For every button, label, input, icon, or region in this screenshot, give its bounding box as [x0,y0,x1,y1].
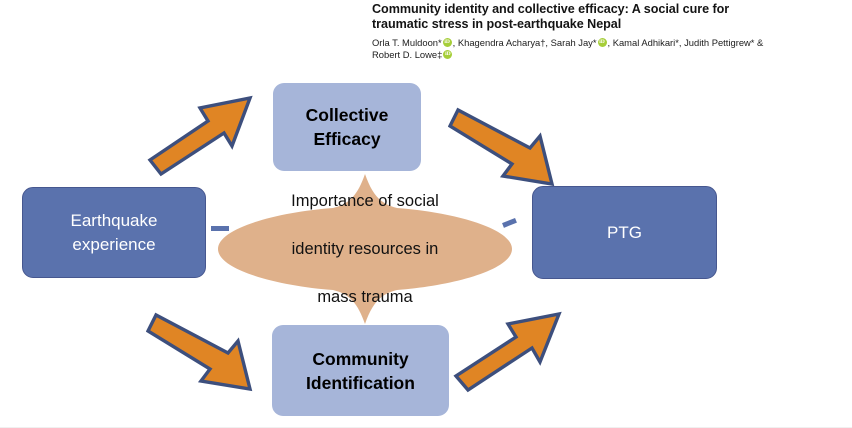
paper-title-line-1: Community identity and collective effica… [372,2,729,16]
node-community-identification[interactable]: Community Identification [272,325,449,416]
node-collective-efficacy-label: Collective Efficacy [273,103,421,151]
paper-title: Community identity and collective effica… [372,2,846,32]
author-lowe: Robert D. Lowe‡ [372,49,442,60]
node-earthquake-line-1: Earthquake [71,211,158,230]
node-community-identification-line-1: Community [312,349,408,369]
author-muldoon: Orla T. Muldoon* [372,37,442,48]
node-collective-efficacy-line-2: Efficacy [313,129,380,149]
callout-line-2: identity resources in [250,237,480,261]
authors-adhikari-pettigrew: , Kamal Adhikari*, Judith Pettigrew* & [608,37,764,48]
node-collective-efficacy[interactable]: Collective Efficacy [273,83,421,171]
callout-line-3: mass trauma [250,285,480,309]
arrow-earthquake-to-collective-efficacy [146,88,260,178]
orcid-icon-muldoon[interactable] [443,38,452,47]
node-ptg[interactable]: PTG [532,186,717,279]
node-earthquake-line-2: experience [72,235,155,254]
paper-title-line-2: traumatic stress in post-earthquake Nepa… [372,17,621,31]
callout-line-1: Importance of social [250,189,480,213]
center-callout-text: Importance of social identity resources … [212,168,518,330]
paper-authors: Orla T. Muldoon*, Khagendra Acharya†, Sa… [372,37,846,61]
node-earthquake-experience[interactable]: Earthquake experience [22,187,206,278]
node-ptg-label: PTG [533,221,716,245]
node-community-identification-label: Community Identification [272,347,449,395]
node-community-identification-line-2: Identification [306,373,415,393]
orcid-icon-lowe[interactable] [443,50,452,59]
orcid-icon-jay[interactable] [598,38,607,47]
authors-acharya-jay: , Khagendra Acharya†, Sarah Jay* [453,37,597,48]
node-earthquake-label: Earthquake experience [23,209,205,257]
paper-header: Community identity and collective effica… [372,2,846,61]
diagram-canvas: Community identity and collective effica… [0,0,852,428]
node-collective-efficacy-line-1: Collective [306,105,389,125]
center-callout-shape: Importance of social identity resources … [212,168,518,330]
